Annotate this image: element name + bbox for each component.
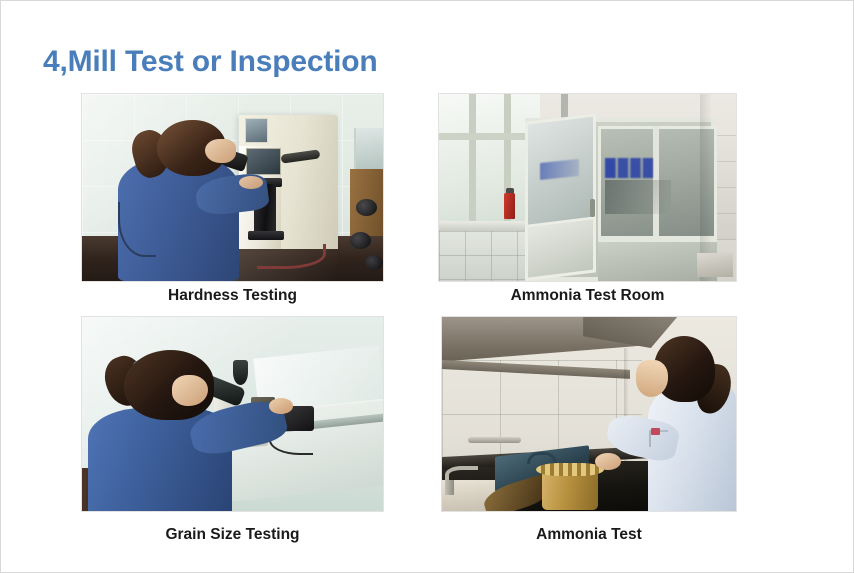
photo-frame-ammonia-test-room [438,93,737,282]
photo-frame-ammonia-test [441,316,737,512]
photo-ammonia-test [441,316,737,512]
wall-tile-grid [439,231,531,281]
booth-door-handle [590,199,595,218]
booth-door-lower-panel [525,216,596,281]
photo-hardness-testing [81,93,384,282]
photo-frame-hardness-testing [81,93,384,282]
faucet-spout [445,480,454,496]
caption-ammonia-test: Ammonia Test [441,526,737,544]
tester-anvil-base [248,231,284,240]
photo-ammonia-test-room [438,93,737,282]
photo-grain-size-testing [81,316,384,512]
technician-face [205,139,235,163]
tester-upper-window [245,118,268,142]
wall-rail [468,437,521,443]
equipment-knob [365,255,383,270]
fire-extinguisher [504,193,515,219]
glass-reflection [605,180,670,214]
slide-canvas: 4,Mill Test or Inspection [0,0,854,573]
shirt-badge [651,428,660,436]
photo-frame-grain-size-testing [81,316,384,512]
tester-display-screen [246,148,281,174]
caption-ammonia-test-room: Ammonia Test Room [438,287,737,305]
page-title: 4,Mill Test or Inspection [43,45,378,79]
floor-object [697,253,733,277]
microscope-focus-knob [233,360,248,385]
technician-hand [269,398,293,414]
equipment-knob [356,199,377,216]
window-mullion-vertical [469,94,476,229]
caption-grain-size-testing: Grain Size Testing [81,526,384,544]
glass-signage-text [605,158,653,179]
brass-vessel-rack-lid [536,463,604,477]
caption-hardness-testing: Hardness Testing [81,287,384,305]
